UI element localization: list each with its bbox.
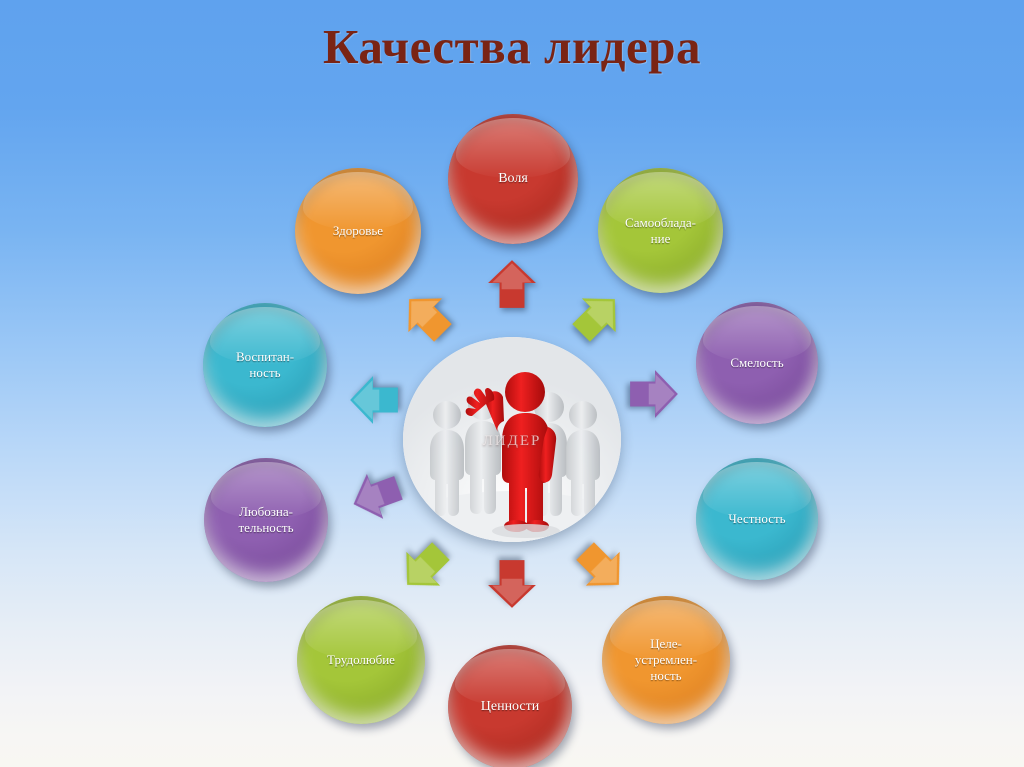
arrow-up-right-icon <box>561 279 635 353</box>
quality-bubble-label: Здоровье <box>325 223 391 239</box>
leader-figures-svg <box>403 337 621 542</box>
arrow-left-2-icon <box>343 463 410 530</box>
quality-bubble-label: Честность <box>720 511 793 527</box>
arrow-left-icon <box>348 374 400 426</box>
quality-bubble-celeustremlen[interactable]: Целе- устремлен- ность <box>602 596 730 724</box>
quality-bubble-smelost[interactable]: Смелость <box>696 302 818 424</box>
arrow-down-icon <box>486 558 538 610</box>
quality-bubble-label: Любозна- тельность <box>230 504 301 536</box>
quality-bubble-zdorove[interactable]: Здоровье <box>295 168 421 294</box>
arrow-up-icon <box>486 258 538 310</box>
quality-bubble-label: Трудолюбие <box>319 652 403 668</box>
arrow-down-left-icon <box>387 531 461 605</box>
arrow-up-left-icon <box>389 279 463 353</box>
quality-bubble-chestnost[interactable]: Честность <box>696 458 818 580</box>
quality-bubble-label: Целе- устремлен- ность <box>627 636 705 684</box>
page-title: Качества лидера <box>0 18 1024 75</box>
slide-canvas: Качества лидера ВоляСамооблада- ниеСмело… <box>0 0 1024 767</box>
quality-bubble-trudolyubie[interactable]: Трудолюбие <box>297 596 425 724</box>
quality-bubble-lyuboznatelnost[interactable]: Любозна- тельность <box>204 458 328 582</box>
quality-bubble-samoobladanie[interactable]: Самооблада- ние <box>598 168 723 293</box>
quality-bubble-vospitannost[interactable]: Воспитан- ность <box>203 303 327 427</box>
quality-bubble-label: Воля <box>490 170 536 187</box>
quality-bubble-label: Самооблада- ние <box>617 215 704 247</box>
quality-bubble-label: Смелость <box>722 355 791 371</box>
quality-bubble-cennosti[interactable]: Ценности <box>448 645 572 767</box>
arrow-down-right-icon <box>565 531 639 605</box>
quality-bubble-label: Воспитан- ность <box>228 349 302 381</box>
quality-bubble-volya[interactable]: Воля <box>448 114 578 244</box>
quality-bubble-label: Ценности <box>473 698 547 715</box>
arrow-right-icon <box>628 368 680 420</box>
leader-crowd-illustration: ЛИДЕР <box>403 337 621 542</box>
